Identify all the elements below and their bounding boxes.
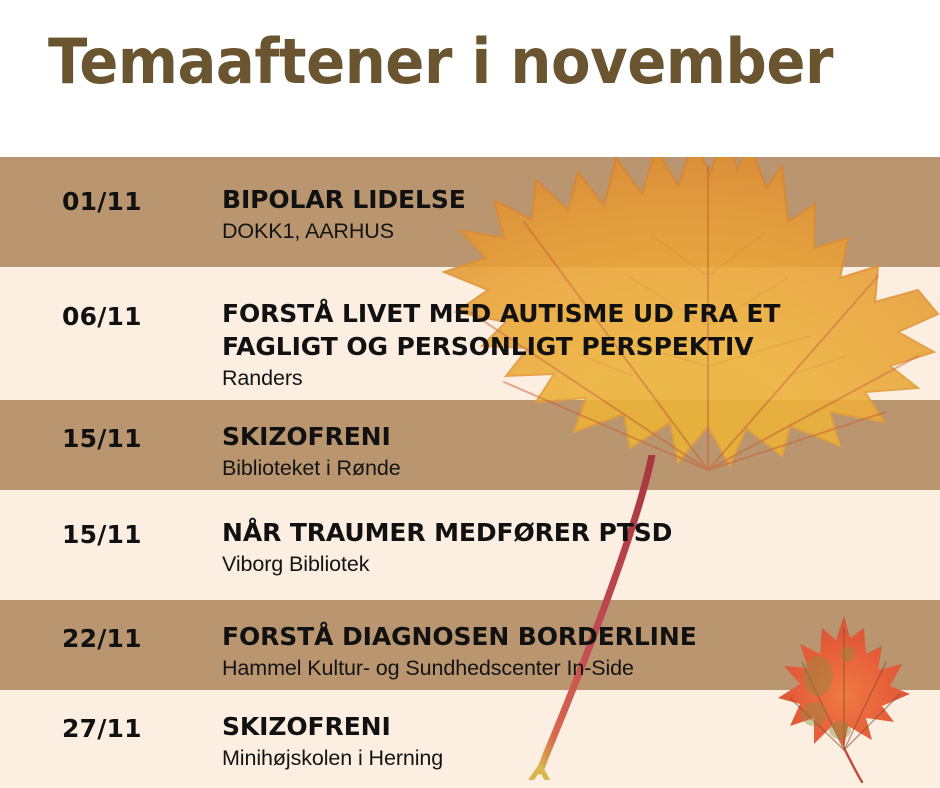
poster-canvas: Temaaftener i november 01/11BIPOLAR LIDE… xyxy=(0,0,940,788)
event-row-band xyxy=(0,157,940,267)
event-band-background xyxy=(0,157,940,788)
event-row-band xyxy=(0,267,940,400)
event-row-band xyxy=(0,690,940,788)
event-row-band xyxy=(0,600,940,690)
poster-header: Temaaftener i november xyxy=(0,0,940,157)
event-row-band xyxy=(0,400,940,490)
page-title: Temaaftener i november xyxy=(48,26,833,97)
event-row-band xyxy=(0,490,940,600)
